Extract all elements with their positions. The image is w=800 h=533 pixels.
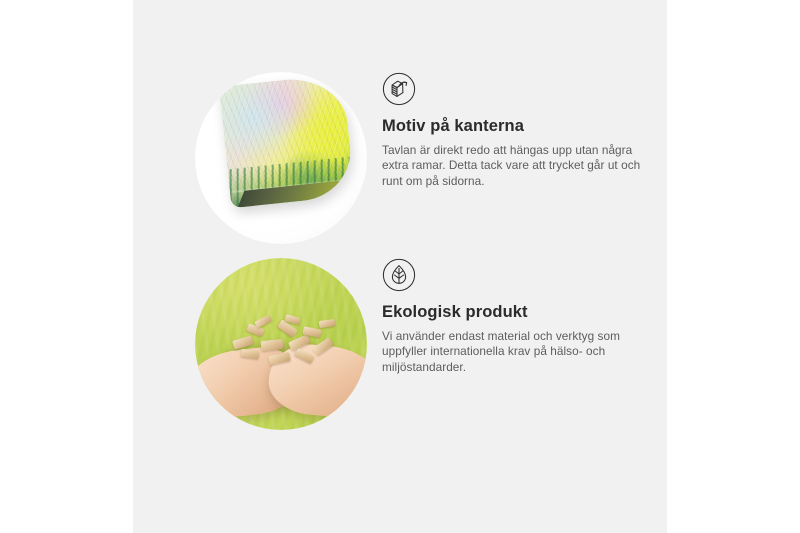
feature-block-canvas-edges: Motiv på kanterna Tavlan är direkt redo … [133,72,667,262]
feature-text-2: Ekologisk produkt Vi använder endast mat… [382,258,654,376]
feature-media-1 [195,72,367,244]
feature-media-2 [195,258,367,430]
grass-background [195,258,367,430]
feature-block-eco-product: Ekologisk produkt Vi använder endast mat… [133,258,667,448]
feature-text-1: Motiv på kanterna Tavlan är direkt redo … [382,72,654,190]
wood-chip-pile [229,316,341,370]
canvas-wrap-edge-icon [382,72,416,106]
feature-description: Tavlan är direkt redo att hängas upp uta… [382,143,654,190]
canvas-corner-photo [195,72,367,244]
leaf-icon [382,258,416,292]
feature-title: Motiv på kanterna [382,117,654,137]
feature-title: Ekologisk produkt [382,303,654,323]
content-panel: Motiv på kanterna Tavlan är direkt redo … [133,0,667,533]
promo-page: Motiv på kanterna Tavlan är direkt redo … [0,0,800,533]
hands-with-wood-chips-photo [195,258,367,430]
canvas-corner-shape [219,74,355,208]
feature-description: Vi använder endast material och verktyg … [382,329,654,376]
